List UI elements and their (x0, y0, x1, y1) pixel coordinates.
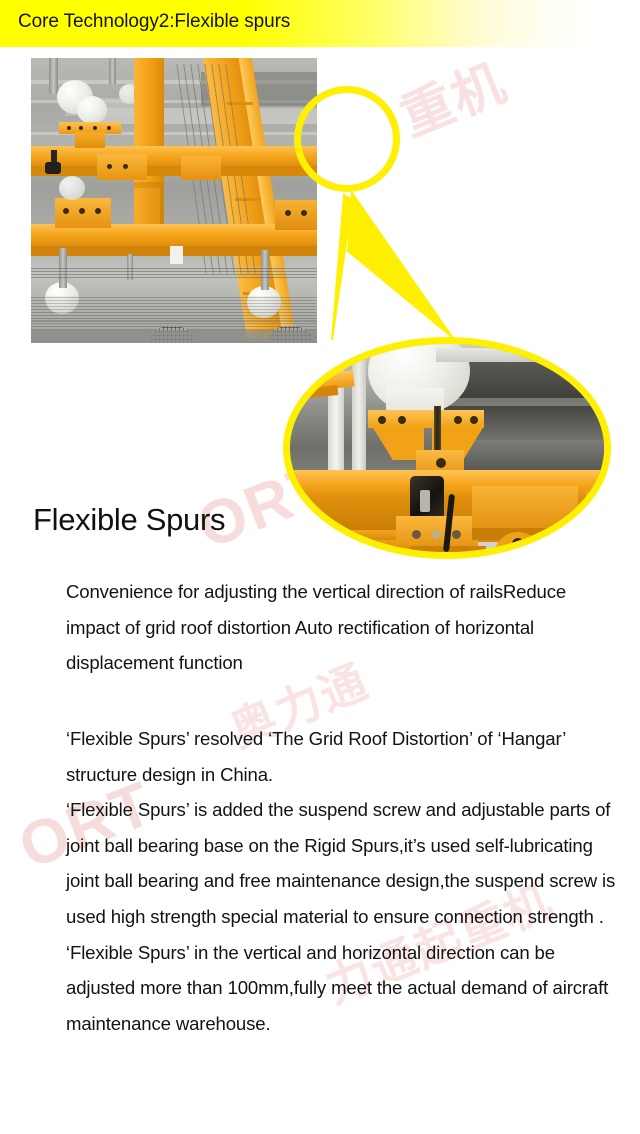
flexible-spur-detail-photo (283, 337, 611, 559)
bolt (470, 416, 478, 424)
duct-highlight (440, 398, 611, 406)
section-title: Flexible Spurs (33, 502, 225, 538)
bolt (432, 530, 441, 539)
bolt (512, 538, 524, 550)
roof-ball-node (59, 176, 85, 200)
support-post (109, 58, 116, 84)
paragraph-benefits: Convenience for adjusting the vertical d… (66, 574, 618, 681)
floor-grating (31, 296, 317, 322)
paragraph-description: ‘Flexible Spurs’ resolved ‘The Grid Roof… (66, 721, 618, 1041)
motor-housing (472, 486, 578, 532)
crane-girder-web (31, 166, 317, 176)
rail-clip (586, 492, 608, 520)
end-carriage-block (275, 200, 317, 230)
bolt (63, 208, 69, 214)
spur-bracket-gusset (75, 132, 105, 148)
bolt (79, 126, 83, 130)
bolt (436, 458, 446, 468)
highlight-circle (294, 86, 400, 192)
bolt (454, 416, 462, 424)
bolt (378, 416, 386, 424)
page-title: Core Technology2:Flexible spurs (18, 11, 290, 33)
bolt (123, 164, 128, 169)
bolt (452, 530, 461, 539)
bolt (107, 126, 111, 130)
watermark-cjk-top: 重机 (388, 40, 516, 150)
bolt (285, 210, 291, 216)
trolley-block (181, 156, 221, 180)
conduit-box (170, 246, 183, 264)
floor-grating (31, 266, 317, 278)
bolt (412, 530, 421, 539)
joint-ball-bearing (45, 162, 61, 174)
bolt (95, 208, 101, 214)
header-band: Core Technology2:Flexible spurs (0, 0, 640, 47)
roof-ball-node (77, 96, 107, 124)
bearing-highlight (420, 490, 430, 512)
bolt (301, 210, 307, 216)
support-post (49, 58, 58, 94)
slide-page: Core Technology2:Flexible spurs 重机 ORT O… (0, 0, 640, 1134)
white-pipe-horizontal (436, 348, 611, 362)
hangar-crane-wide-photo (31, 58, 317, 343)
bolt (107, 164, 112, 169)
trolley-block (97, 154, 147, 180)
bolt (398, 416, 406, 424)
bolt (79, 208, 85, 214)
bolt (67, 126, 71, 130)
orange-crane-girder-upper (31, 146, 317, 168)
girder-lower-edge (283, 540, 410, 558)
bolt (93, 126, 97, 130)
floor-shadow (31, 330, 317, 343)
